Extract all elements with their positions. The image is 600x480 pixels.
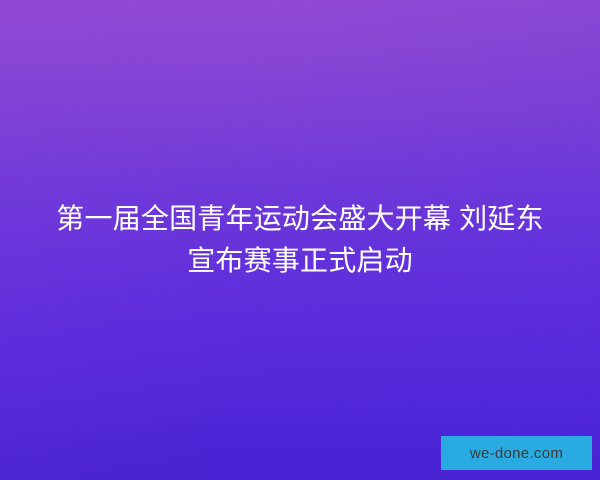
banner-image: 第一届全国青年运动会盛大开幕 刘延东 宣布赛事正式启动 we-done.com [0, 0, 600, 480]
watermark-label: we-done.com [470, 446, 563, 461]
headline-text: 第一届全国青年运动会盛大开幕 刘延东 宣布赛事正式启动 [0, 198, 600, 282]
watermark-badge: we-done.com [441, 436, 592, 470]
